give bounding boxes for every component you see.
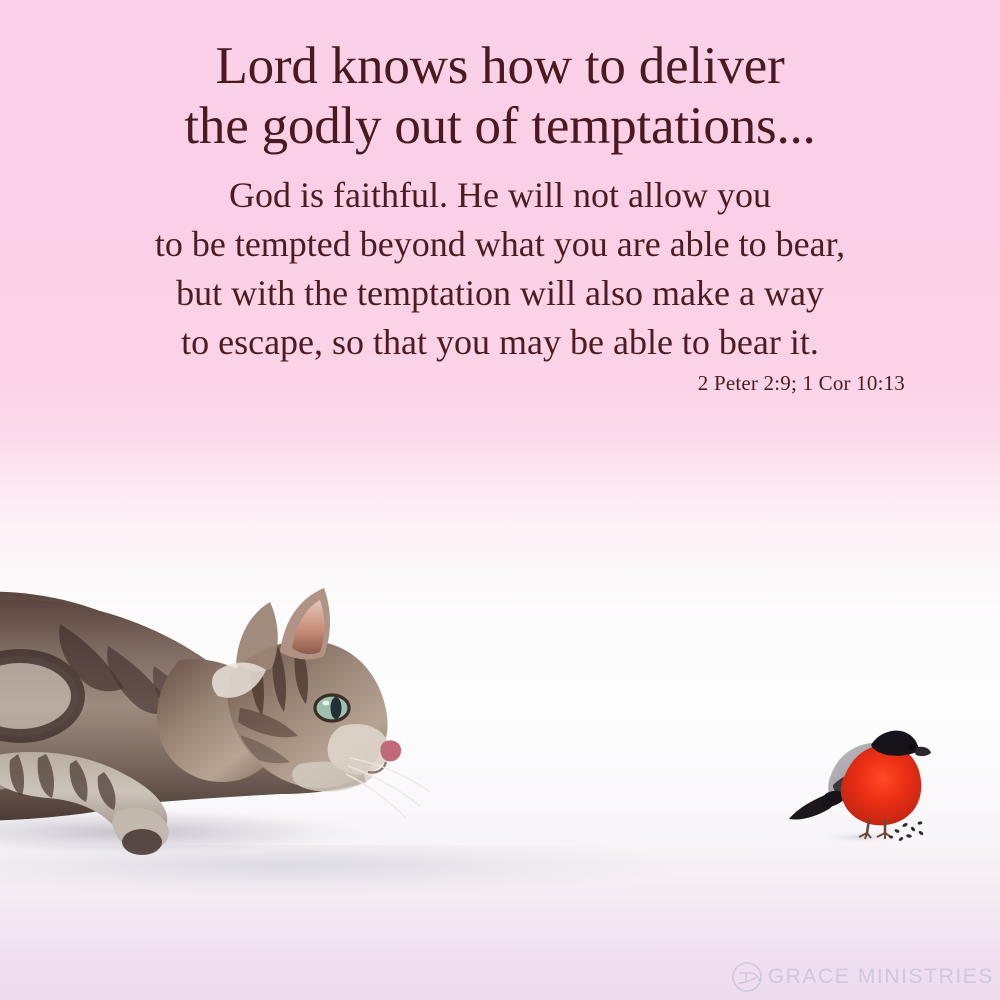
- headline-line-2: the godly out of temptations...: [40, 96, 960, 156]
- cat-pupil: [331, 697, 342, 719]
- verse-line-1: God is faithful. He will not allow you: [30, 171, 970, 220]
- scripture-citation: 2 Peter 2:9; 1 Cor 10:13: [0, 371, 1000, 396]
- cat-paw-pad: [122, 829, 162, 855]
- verse-line-3: but with the temptation will also make a…: [30, 269, 970, 318]
- cat-photo: [0, 520, 440, 890]
- cat-eye-highlight: [323, 701, 330, 706]
- cat-ear-back: [236, 602, 278, 671]
- image-canvas: Lord knows how to deliver the godly out …: [0, 0, 1000, 1000]
- verse-line-2: to be tempted beyond what you are able t…: [30, 220, 970, 269]
- scripture-text-block: Lord knows how to deliver the godly out …: [0, 36, 1000, 396]
- verse-body: God is faithful. He will not allow you t…: [0, 171, 1000, 367]
- verse-line-4: to escape, so that you may be able to be…: [30, 318, 970, 367]
- watermark-text: GRACE MINISTRIES: [768, 965, 994, 989]
- cat-nose: [380, 740, 401, 761]
- headline: Lord knows how to deliver the godly out …: [0, 36, 1000, 157]
- headline-line-1: Lord knows how to deliver: [40, 36, 960, 96]
- watermark: GRACE MINISTRIES: [730, 960, 994, 994]
- bird-beak: [915, 747, 931, 756]
- grace-ministries-logo-icon: [730, 960, 764, 994]
- bird-eye: [908, 744, 913, 749]
- bird-photo: [785, 715, 945, 855]
